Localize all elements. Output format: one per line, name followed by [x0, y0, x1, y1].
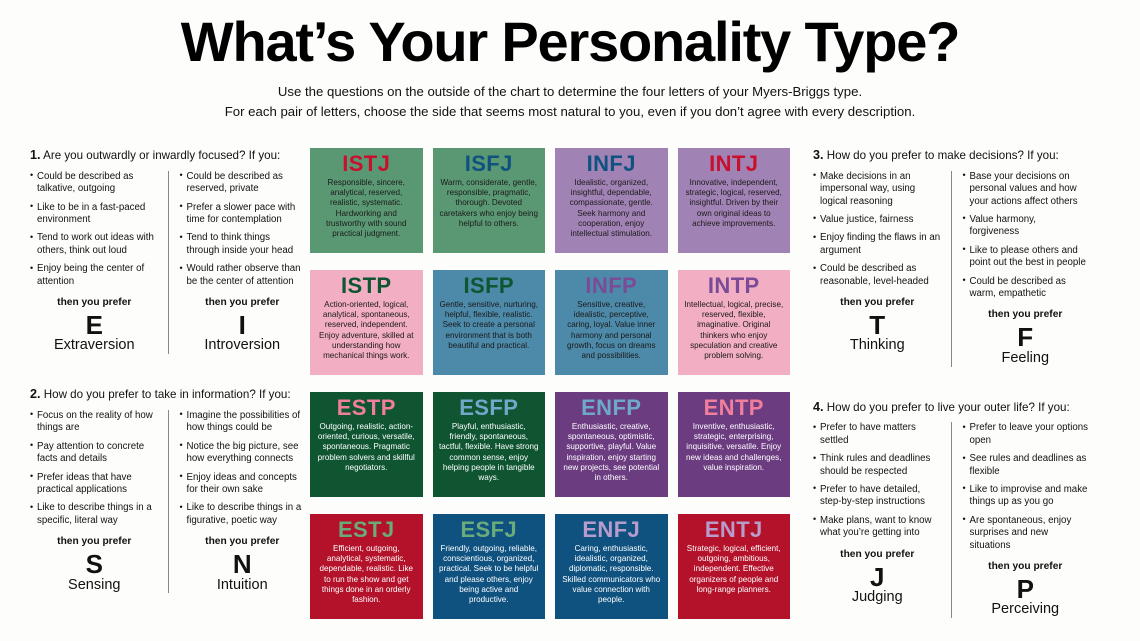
type-description: Enthusiastic, creative, spontaneous, opt… — [561, 422, 662, 483]
type-description: Friendly, outgoing, reliable, conscienti… — [439, 544, 540, 605]
question-3-number: 3. — [813, 148, 824, 162]
question-2-left-option[interactable]: Focus on the reality of how things are P… — [30, 410, 168, 593]
preference-letter-S: S — [30, 551, 159, 578]
list-item: Focus on the reality of how things are — [30, 410, 159, 435]
preference-name-feeling: Feeling — [963, 351, 1089, 367]
type-card-istj[interactable]: ISTJ Responsible, sincere, analytical, r… — [310, 148, 423, 253]
then-you-prefer-label: then you prefer — [180, 297, 306, 308]
then-you-prefer-label: then you prefer — [963, 561, 1089, 572]
question-4-heading: 4. How do you prefer to live your outer … — [813, 400, 1088, 416]
type-card-estj[interactable]: ESTJ Efficient, outgoing, analytical, sy… — [310, 514, 423, 619]
type-code: ESTP — [337, 397, 396, 419]
type-card-entp[interactable]: ENTP Inventive, enthusiastic, strategic,… — [678, 392, 791, 497]
preference-name-introversion: Introversion — [180, 338, 306, 354]
question-2-left-bullets: Focus on the reality of how things are P… — [30, 410, 159, 527]
list-item: Are spontaneous, enjoy surprises and new… — [963, 515, 1089, 552]
type-code: ISTJ — [342, 153, 390, 175]
list-item: Prefer a slower pace with time for conte… — [180, 202, 306, 227]
type-description: Playful, enthusiastic, friendly, spontan… — [439, 422, 540, 483]
type-card-infj[interactable]: INFJ Idealistic, organized, insightful, … — [555, 148, 668, 253]
list-item: Notice the big picture, see how everythi… — [180, 441, 306, 466]
preference-letter-T: T — [813, 312, 942, 339]
list-item: Enjoy ideas and concepts for their own s… — [180, 472, 306, 497]
question-1-right-bullets: Could be described as reserved, private … — [180, 171, 306, 288]
type-description: Sensitive, creative, idealistic, percept… — [561, 300, 662, 361]
type-card-enfj[interactable]: ENFJ Caring, enthusiastic, idealistic, o… — [555, 514, 668, 619]
preference-name-sensing: Sensing — [30, 578, 159, 594]
list-item: Could be described as warm, empathetic — [963, 276, 1089, 301]
list-item: Value justice, fairness — [813, 214, 942, 226]
subtitle-line-2: For each pair of letters, choose the sid… — [0, 102, 1140, 122]
type-code: ENTP — [704, 397, 764, 419]
personality-chart-page: What’s Your Personality Type? Use the qu… — [0, 0, 1140, 641]
list-item: Prefer to leave your options open — [963, 422, 1089, 447]
list-item: Tend to work out ideas with others, thin… — [30, 232, 159, 257]
question-4-left-bullets: Prefer to have matters settled Think rul… — [813, 422, 942, 539]
type-card-esfp[interactable]: ESFP Playful, enthusiastic, friendly, sp… — [433, 392, 546, 497]
question-4-text: How do you prefer to live your outer lif… — [827, 401, 1070, 414]
then-you-prefer-label: then you prefer — [813, 549, 942, 560]
type-card-esfj[interactable]: ESFJ Friendly, outgoing, reliable, consc… — [433, 514, 546, 619]
list-item: Could be described as reasonable, level-… — [813, 263, 942, 288]
type-code: ESFJ — [460, 519, 517, 541]
page-title: What’s Your Personality Type? — [0, 0, 1140, 70]
question-block-4: 4. How do you prefer to live your outer … — [813, 400, 1088, 619]
type-card-istp[interactable]: ISTP Action-oriented, logical, analytica… — [310, 270, 423, 375]
type-grid-column: ISTJ Responsible, sincere, analytical, r… — [305, 148, 795, 619]
question-4-right-bullets: Prefer to leave your options open See ru… — [963, 422, 1089, 552]
list-item: Make plans, want to know what you’re get… — [813, 515, 942, 540]
question-2-text: How do you prefer to take in information… — [44, 388, 291, 401]
question-4-number: 4. — [813, 400, 824, 414]
type-card-enfp[interactable]: ENFP Enthusiastic, creative, spontaneous… — [555, 392, 668, 497]
type-code: ENTJ — [705, 519, 763, 541]
preference-letter-P: P — [963, 576, 1089, 603]
list-item: Enjoy finding the flaws in an argument — [813, 232, 942, 257]
list-item: Prefer ideas that have practical applica… — [30, 472, 159, 497]
type-card-intp[interactable]: INTP Intellectual, logical, precise, res… — [678, 270, 791, 375]
preference-letter-N: N — [180, 551, 306, 578]
question-1-left-option[interactable]: Could be described as talkative, outgoin… — [30, 171, 168, 354]
question-3-right-bullets: Base your decisions on personal values a… — [963, 171, 1089, 301]
preference-name-intuition: Intuition — [180, 578, 306, 594]
list-item: Make decisions in an impersonal way, usi… — [813, 171, 942, 208]
type-card-estp[interactable]: ESTP Outgoing, realistic, action-oriente… — [310, 392, 423, 497]
question-2-heading: 2. How do you prefer to take in informat… — [30, 387, 305, 403]
chart-body: 1. Are you outwardly or inwardly focused… — [0, 148, 1140, 641]
list-item: Base your decisions on personal values a… — [963, 171, 1089, 208]
question-4-left-option[interactable]: Prefer to have matters settled Think rul… — [813, 422, 951, 618]
then-you-prefer-label: then you prefer — [963, 309, 1089, 320]
type-card-entj[interactable]: ENTJ Strategic, logical, efficient, outg… — [678, 514, 791, 619]
list-item: Prefer to have detailed, step-by-step in… — [813, 484, 942, 509]
list-item: Think rules and deadlines should be resp… — [813, 453, 942, 478]
type-description: Innovative, independent, strategic, logi… — [684, 178, 785, 229]
type-description: Strategic, logical, efficient, outgoing,… — [684, 544, 785, 595]
type-code: ESFP — [459, 397, 518, 419]
list-item: Value harmony, forgiveness — [963, 214, 1089, 239]
then-you-prefer-label: then you prefer — [30, 297, 159, 308]
question-block-1: 1. Are you outwardly or inwardly focused… — [30, 148, 305, 354]
preference-letter-I: I — [180, 312, 306, 339]
preference-name-thinking: Thinking — [813, 338, 942, 354]
type-card-infp[interactable]: INFP Sensitive, creative, idealistic, pe… — [555, 270, 668, 375]
type-code: INTP — [708, 275, 760, 297]
question-4-right-option[interactable]: Prefer to leave your options open See ru… — [951, 422, 1089, 618]
list-item: Pay attention to concrete facts and deta… — [30, 441, 159, 466]
left-question-column: 1. Are you outwardly or inwardly focused… — [0, 148, 305, 593]
list-item: Tend to think things through inside your… — [180, 232, 306, 257]
preference-name-judging: Judging — [813, 590, 942, 606]
list-item: Could be described as reserved, private — [180, 171, 306, 196]
type-code: ISFJ — [465, 153, 513, 175]
list-item: Could be described as talkative, outgoin… — [30, 171, 159, 196]
question-block-3: 3. How do you prefer to make decisions? … — [813, 148, 1088, 367]
list-item: Enjoy being the center of attention — [30, 263, 159, 288]
list-item: Prefer to have matters settled — [813, 422, 942, 447]
list-item: Like to describe things in a figurative,… — [180, 502, 306, 527]
question-1-left-bullets: Could be described as talkative, outgoin… — [30, 171, 159, 288]
type-description: Outgoing, realistic, action-oriented, cu… — [316, 422, 417, 473]
list-item: Like to improvise and make things up as … — [963, 484, 1089, 509]
preference-name-extraversion: Extraversion — [30, 338, 159, 354]
list-item: Would rather observe than be the center … — [180, 263, 306, 288]
type-code: ENFP — [581, 397, 641, 419]
type-card-isfp[interactable]: ISFP Gentle, sensitive, nurturing, helpf… — [433, 270, 546, 375]
type-code: INFP — [585, 275, 637, 297]
question-3-left-bullets: Make decisions in an impersonal way, usi… — [813, 171, 942, 288]
question-3-heading: 3. How do you prefer to make decisions? … — [813, 148, 1088, 164]
type-code: ESTJ — [338, 519, 395, 541]
right-question-column: 3. How do you prefer to make decisions? … — [795, 148, 1100, 618]
list-item: Like to please others and point out the … — [963, 245, 1089, 270]
type-description: Inventive, enthusiastic, strategic, ente… — [684, 422, 785, 473]
type-description: Action-oriented, logical, analytical, sp… — [316, 300, 417, 361]
page-subtitle: Use the questions on the outside of the … — [0, 70, 1140, 122]
type-description: Responsible, sincere, analytical, reserv… — [316, 178, 417, 239]
question-2-right-bullets: Imagine the possibilities of how things … — [180, 410, 306, 527]
preference-name-perceiving: Perceiving — [963, 602, 1089, 618]
list-item: Imagine the possibilities of how things … — [180, 410, 306, 435]
question-3-right-option[interactable]: Base your decisions on personal values a… — [951, 171, 1089, 367]
personality-type-grid: ISTJ Responsible, sincere, analytical, r… — [310, 148, 790, 619]
type-code: ISTP — [341, 275, 392, 297]
question-1-text: Are you outwardly or inwardly focused? I… — [43, 149, 280, 162]
type-card-intj[interactable]: INTJ Innovative, independent, strategic,… — [678, 148, 791, 253]
type-description: Caring, enthusiastic, idealistic, organi… — [561, 544, 662, 605]
question-2-right-option[interactable]: Imagine the possibilities of how things … — [168, 410, 306, 593]
type-code: ISFP — [464, 275, 515, 297]
preference-letter-F: F — [963, 324, 1089, 351]
question-1-number: 1. — [30, 148, 41, 162]
then-you-prefer-label: then you prefer — [813, 297, 942, 308]
type-description: Efficient, outgoing, analytical, systema… — [316, 544, 417, 605]
question-2-number: 2. — [30, 387, 41, 401]
type-code: ENFJ — [582, 519, 640, 541]
type-description: Warm, considerate, gentle, responsible, … — [439, 178, 540, 229]
type-description: Idealistic, organized, insightful, depen… — [561, 178, 662, 239]
list-item: Like to be in a fast-paced environment — [30, 202, 159, 227]
question-1-right-option[interactable]: Could be described as reserved, private … — [168, 171, 306, 354]
preference-letter-J: J — [813, 564, 942, 591]
type-description: Intellectual, logical, precise, reserved… — [684, 300, 785, 361]
type-code: INTJ — [709, 153, 758, 175]
then-you-prefer-label: then you prefer — [30, 536, 159, 547]
preference-letter-E: E — [30, 312, 159, 339]
type-code: INFJ — [587, 153, 636, 175]
subtitle-line-1: Use the questions on the outside of the … — [0, 82, 1140, 102]
list-item: See rules and deadlines as flexible — [963, 453, 1089, 478]
list-item: Like to describe things in a specific, l… — [30, 502, 159, 527]
question-3-text: How do you prefer to make decisions? If … — [827, 149, 1059, 162]
then-you-prefer-label: then you prefer — [180, 536, 306, 547]
question-1-heading: 1. Are you outwardly or inwardly focused… — [30, 148, 305, 164]
type-description: Gentle, sensitive, nurturing, helpful, f… — [439, 300, 540, 351]
question-block-2: 2. How do you prefer to take in informat… — [30, 387, 305, 593]
question-3-left-option[interactable]: Make decisions in an impersonal way, usi… — [813, 171, 951, 367]
type-card-isfj[interactable]: ISFJ Warm, considerate, gentle, responsi… — [433, 148, 546, 253]
